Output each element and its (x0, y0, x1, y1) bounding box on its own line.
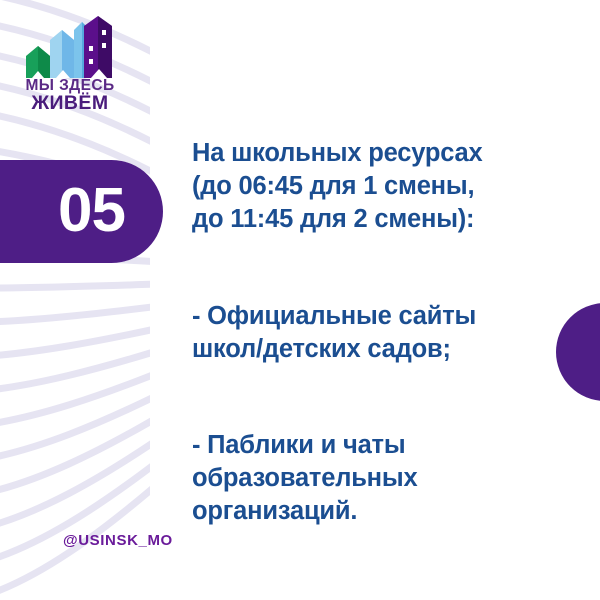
slide-content: На школьных ресурсах (до 06:45 для 1 сме… (192, 104, 584, 562)
social-handle: @USINSK_MO (63, 532, 173, 549)
city-buildings-icon (22, 16, 118, 78)
brand-logo-text: МЫ ЗДЕСЬ ЖИВЁМ (14, 78, 126, 114)
content-item-1: - Официальные сайты школ/детских садов; (192, 300, 584, 366)
brand-logo-line-2: ЖИВЁМ (14, 94, 126, 114)
slide-number-badge: 05 (0, 160, 163, 263)
poster-canvas: МЫ ЗДЕСЬ ЖИВЁМ 05 На школьных ресурсах (… (0, 0, 600, 600)
content-item-2: - Паблики и чаты образовательных организ… (192, 429, 584, 528)
slide-number-value: 05 (58, 179, 125, 241)
brand-logo: МЫ ЗДЕСЬ ЖИВЁМ (14, 16, 126, 118)
content-heading: На школьных ресурсах (до 06:45 для 1 сме… (192, 137, 584, 236)
